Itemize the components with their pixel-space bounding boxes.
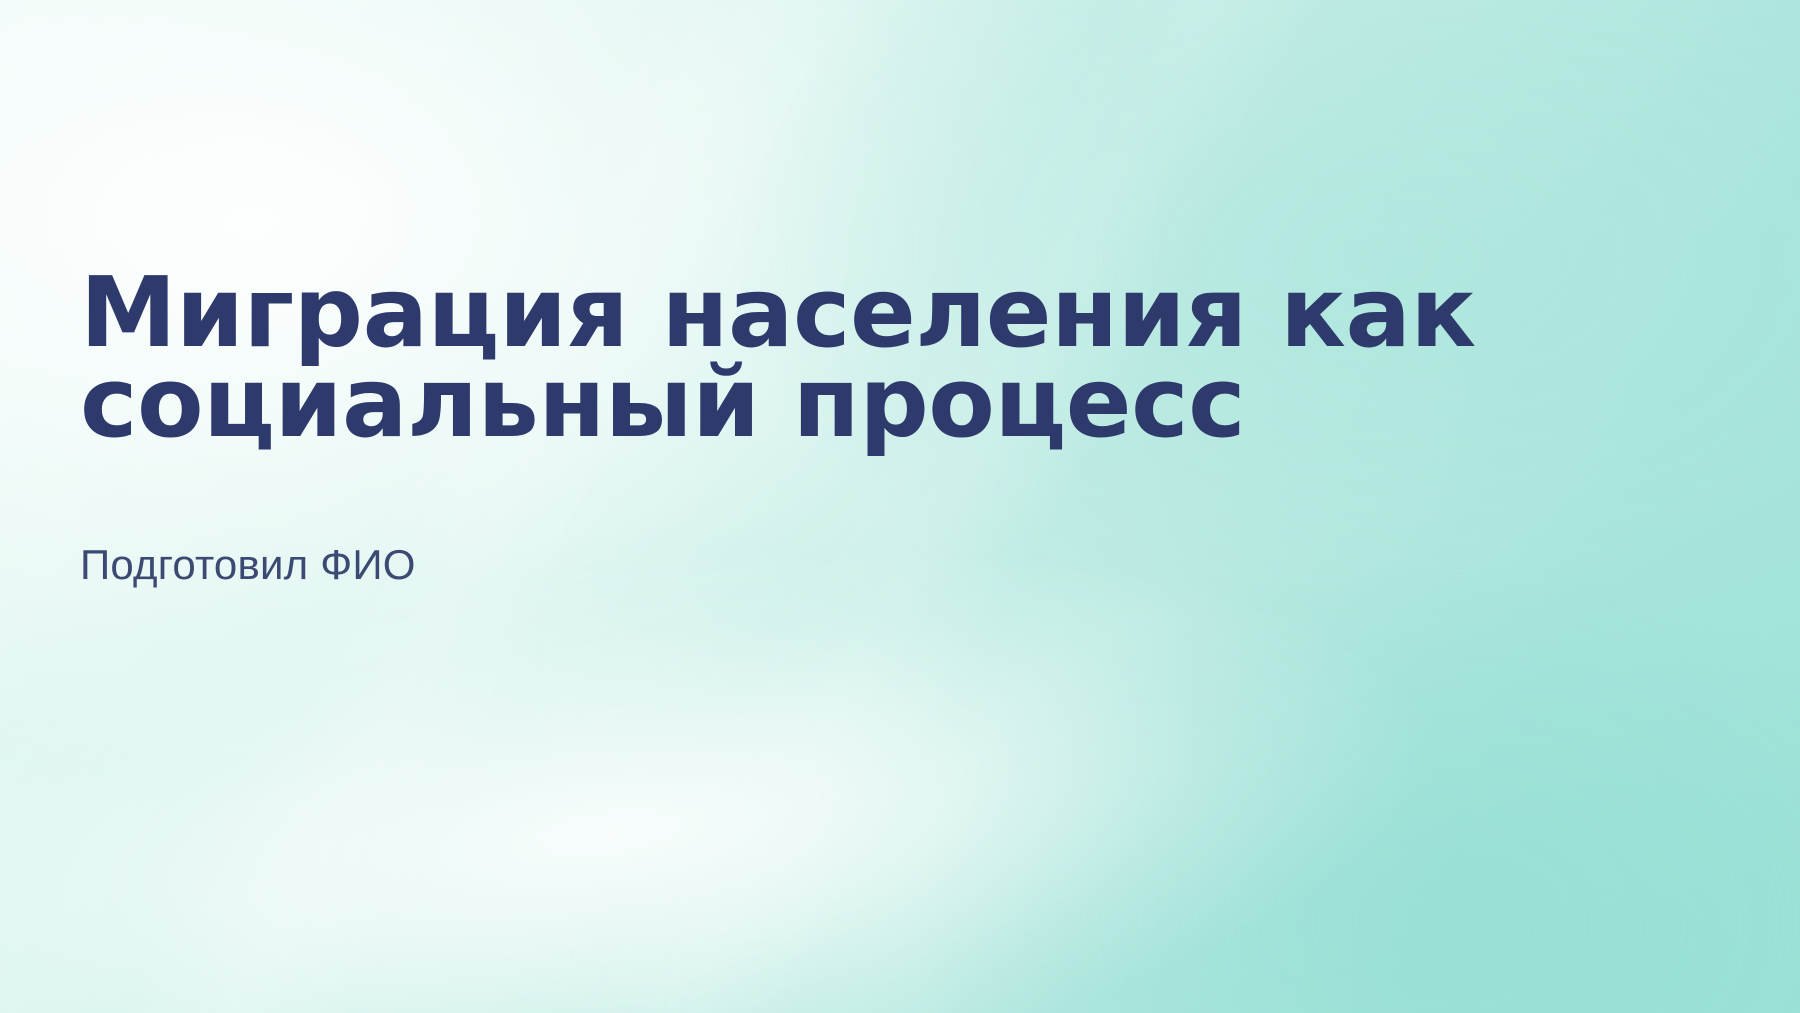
slide-content: Миграция населения как социальный процес… bbox=[80, 268, 1580, 590]
slide-title: Миграция населения как социальный процес… bbox=[80, 268, 1500, 448]
slide-subtitle-author: Подготовил ФИО bbox=[80, 448, 1580, 590]
title-slide: Миграция населения как социальный процес… bbox=[0, 0, 1800, 1013]
